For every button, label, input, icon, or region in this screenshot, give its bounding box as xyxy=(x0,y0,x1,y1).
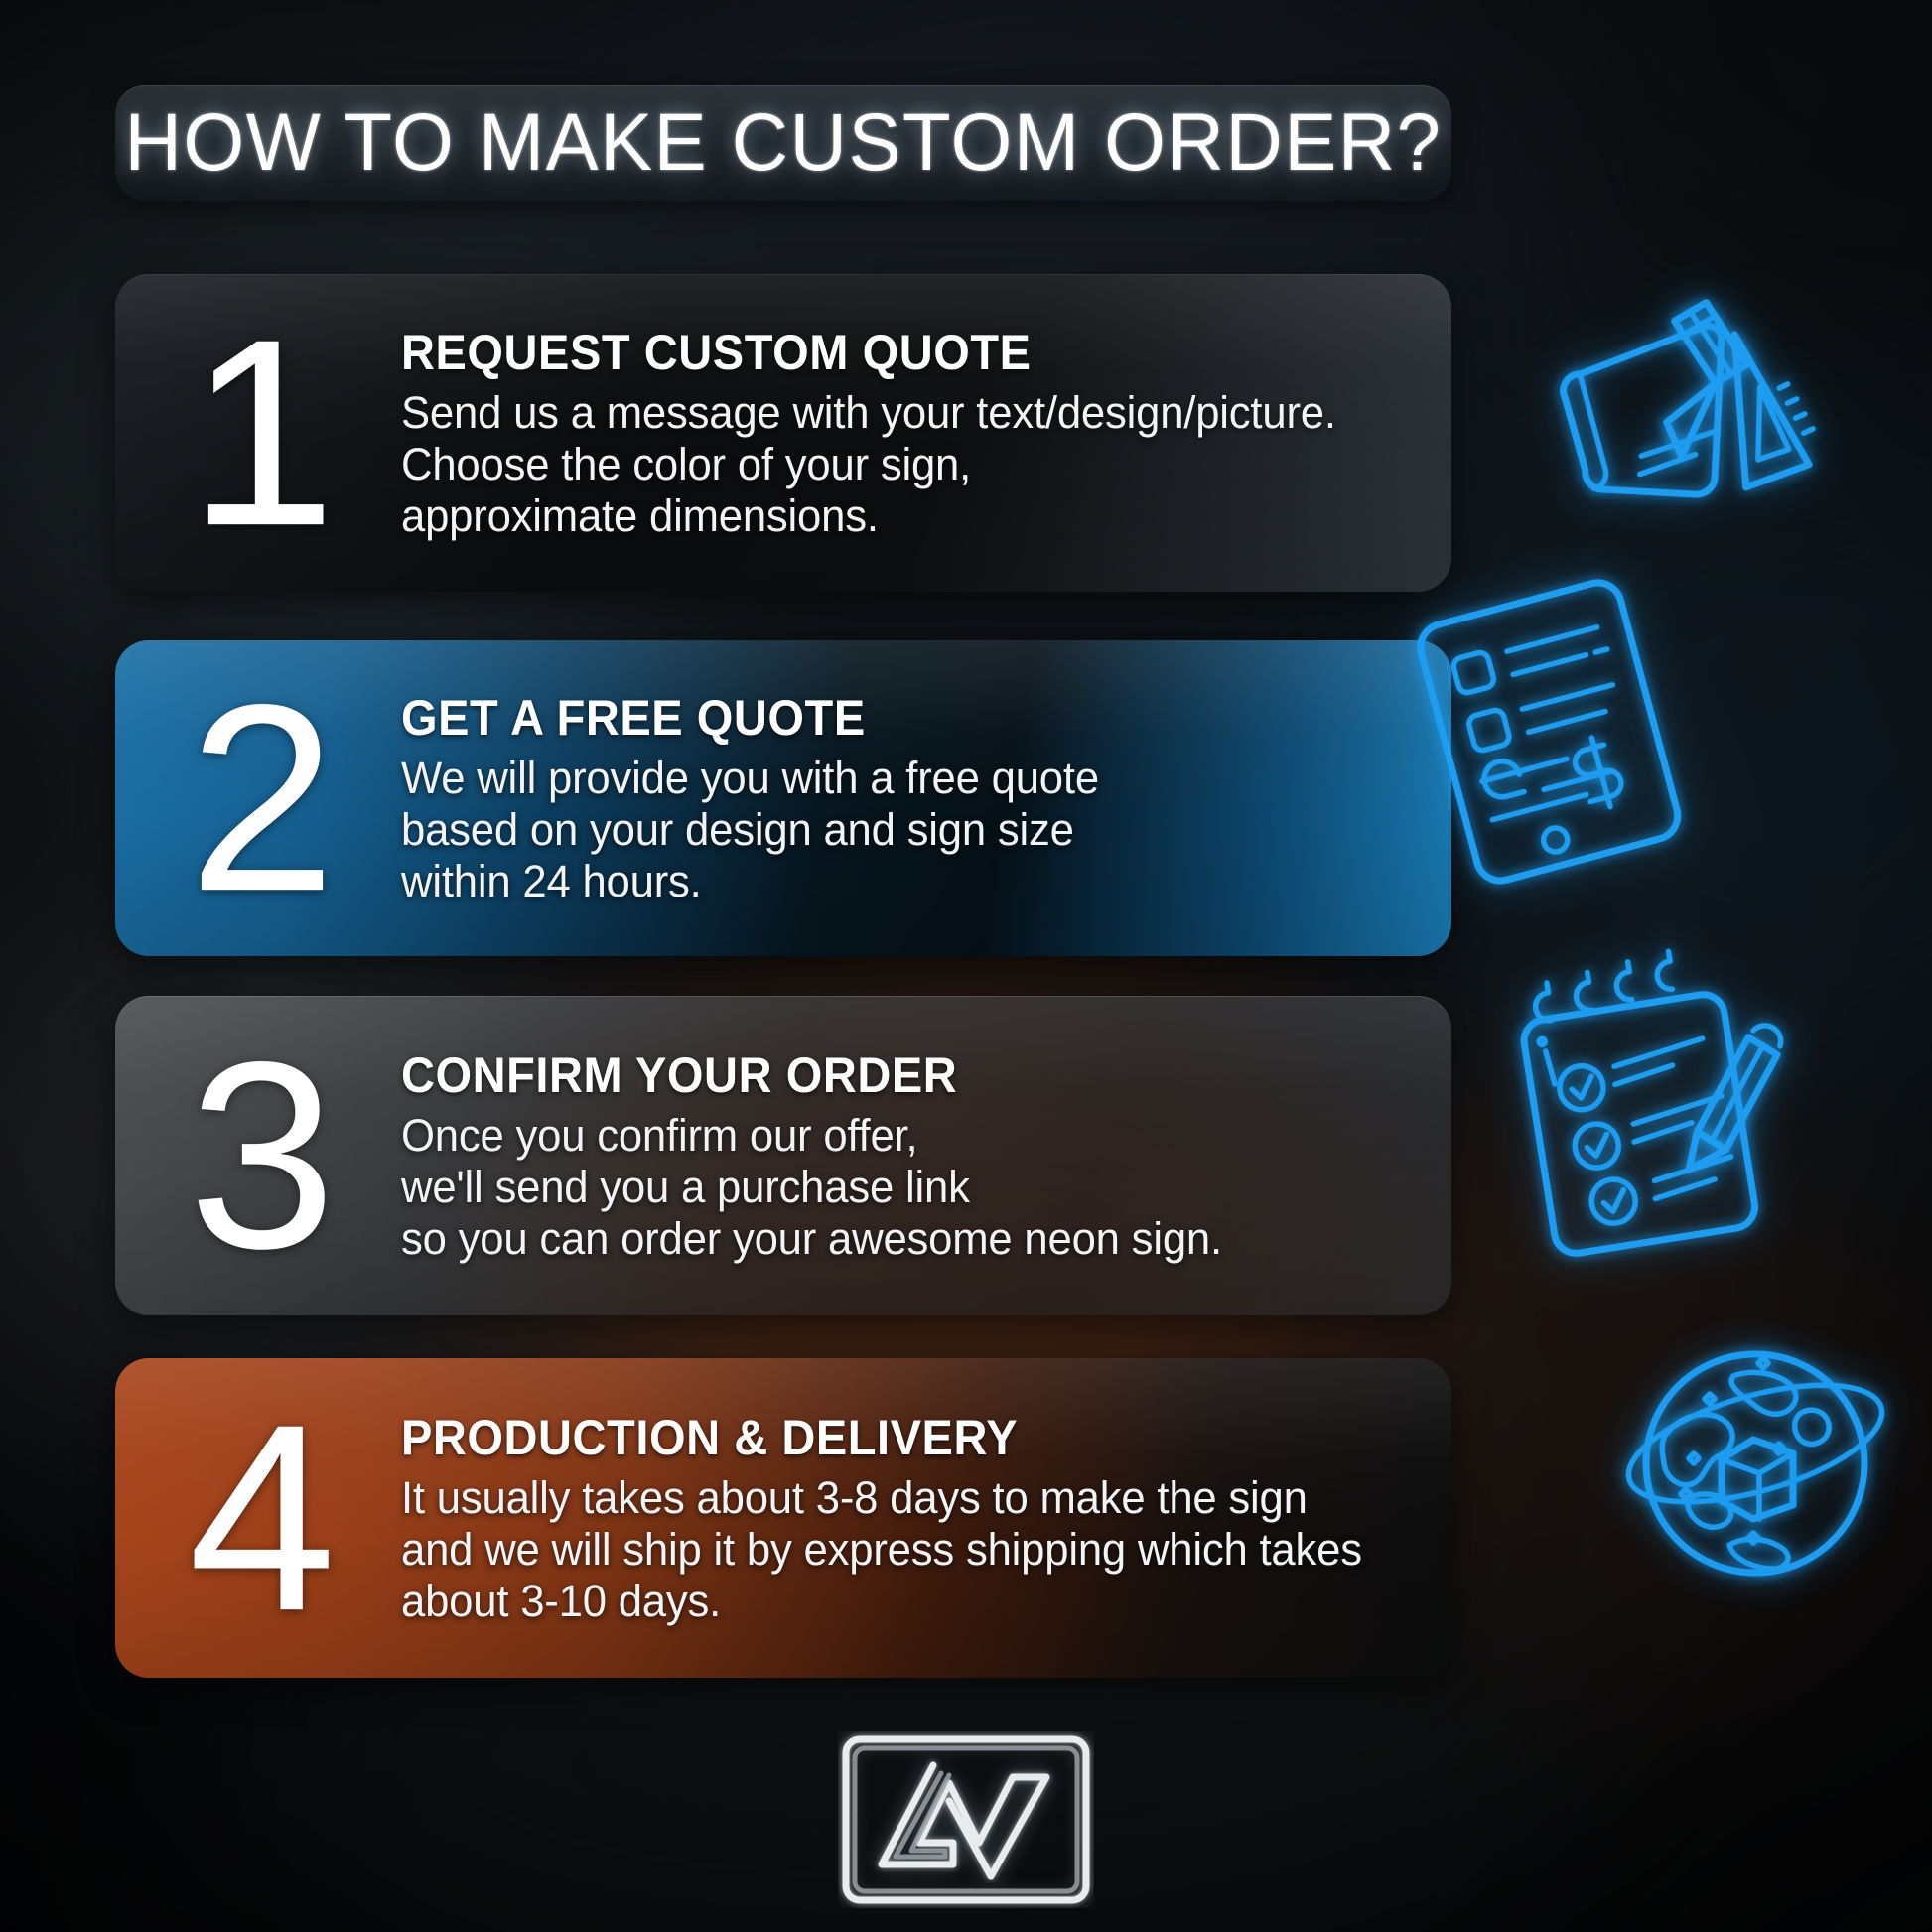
step-body-3: Once you confirm our offer, we'll send y… xyxy=(401,1110,1362,1266)
neon-monogram-logo xyxy=(838,1731,1094,1908)
step-body-1: Send us a message with your text/design/… xyxy=(401,387,1362,543)
page-title-banner: HOW TO MAKE CUSTOM ORDER? xyxy=(115,85,1451,201)
step-body-2: We will provide you with a free quote ba… xyxy=(401,753,1362,908)
step-title-4: PRODUCTION & DELIVERY xyxy=(401,1409,1332,1466)
step-title-2: GET A FREE QUOTE xyxy=(401,689,1332,747)
page-title: HOW TO MAKE CUSTOM ORDER? xyxy=(125,96,1443,190)
step-number-2: 2 xyxy=(159,697,357,899)
step-title-3: CONFIRM YOUR ORDER xyxy=(401,1046,1332,1104)
step-title-1: REQUEST CUSTOM QUOTE xyxy=(401,324,1332,381)
step-number-1: 1 xyxy=(159,332,357,534)
step-card-3: 3 CONFIRM YOUR ORDER Once you confirm ou… xyxy=(115,996,1451,1315)
step-body-4: It usually takes about 3-8 days to make … xyxy=(401,1472,1362,1628)
infographic-canvas: HOW TO MAKE CUSTOM ORDER? 1 REQUEST CUST… xyxy=(0,0,1932,1932)
step-number-4: 4 xyxy=(159,1417,357,1619)
step-number-3: 3 xyxy=(159,1054,357,1257)
step-card-2: 2 GET A FREE QUOTE We will provide you w… xyxy=(115,640,1451,956)
step-card-1: 1 REQUEST CUSTOM QUOTE Send us a message… xyxy=(115,274,1451,592)
step-card-4: 4 PRODUCTION & DELIVERY It usually takes… xyxy=(115,1358,1451,1678)
